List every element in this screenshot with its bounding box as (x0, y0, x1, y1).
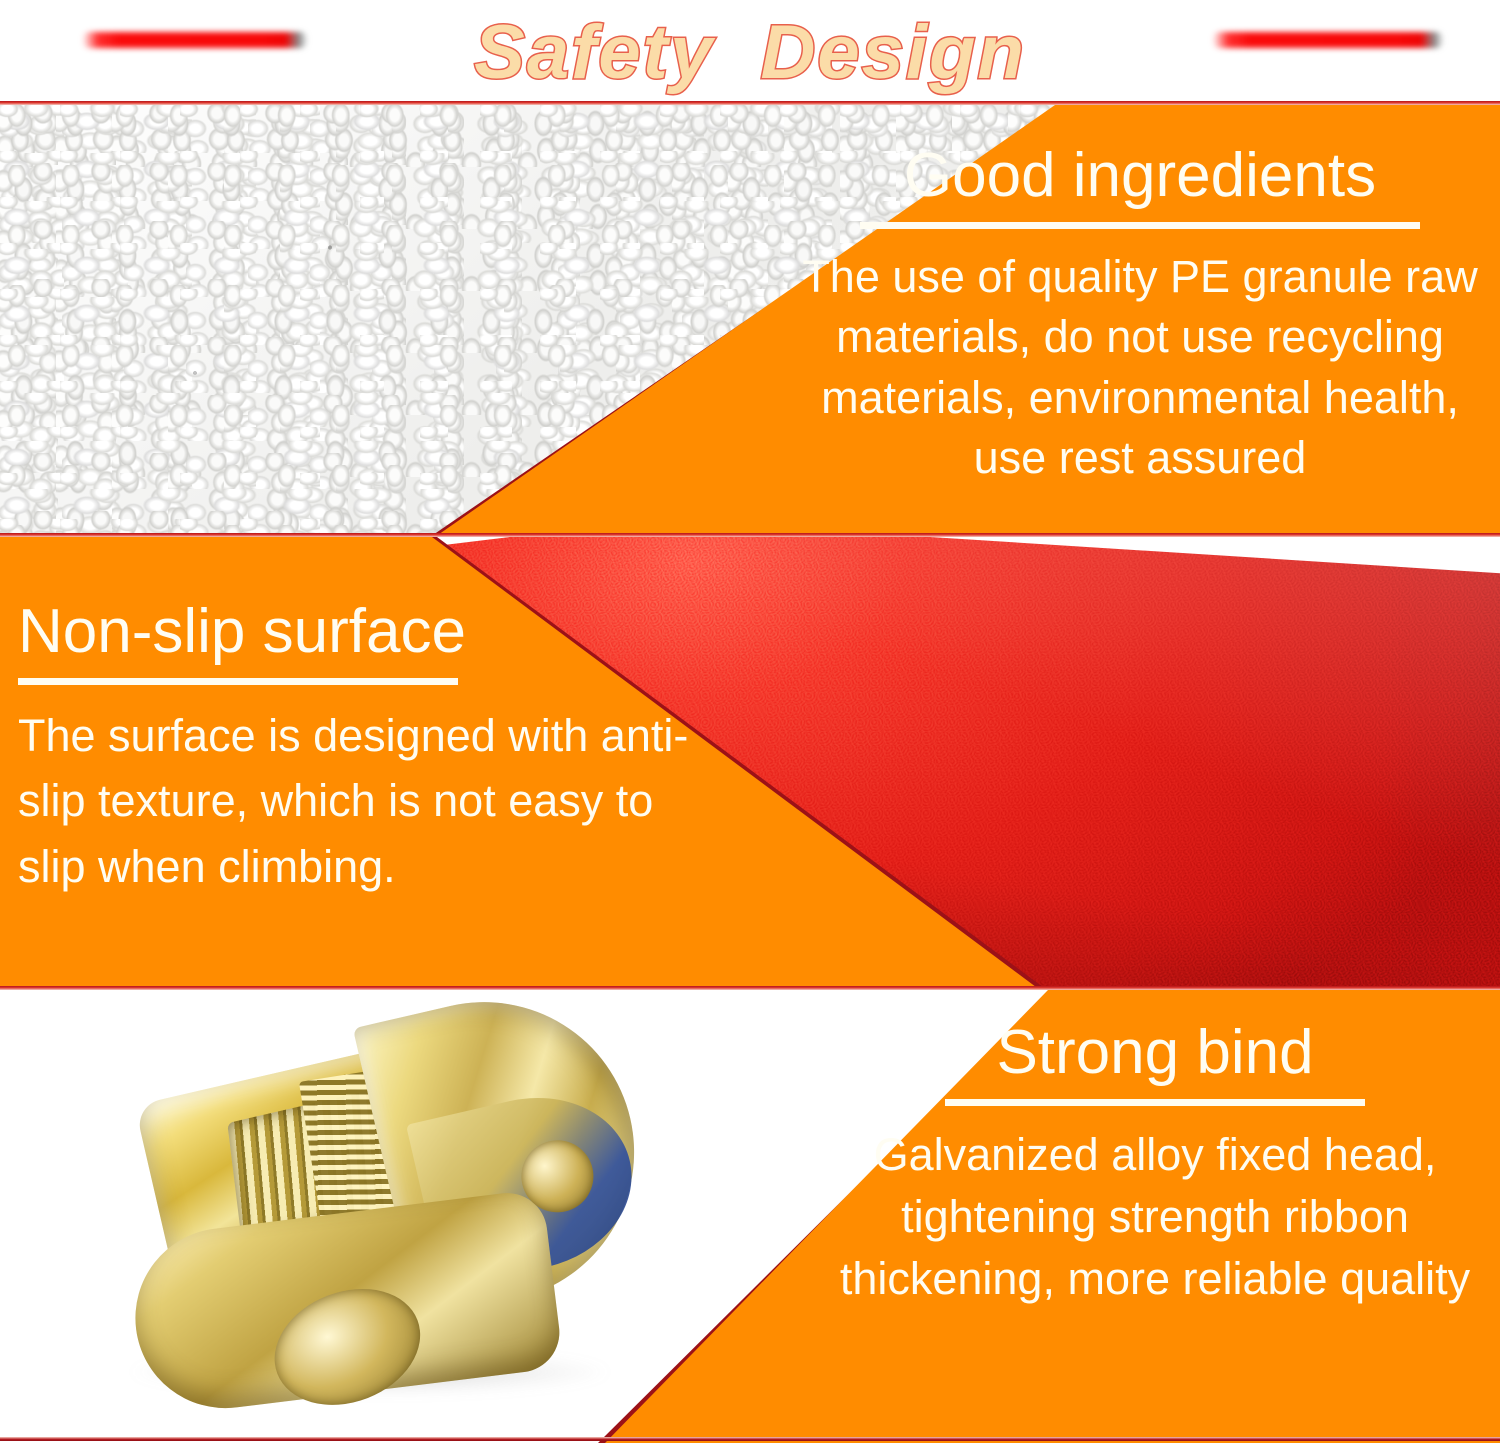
panel-1-body: The use of quality PE granule raw materi… (790, 247, 1490, 488)
panel-2-copy: Non-slip surface The surface is designed… (18, 599, 698, 899)
panel-3-copy: Strong bind Galvanized alloy fixed head,… (815, 1020, 1495, 1310)
buckle-assembly (57, 990, 712, 1443)
safety-design-infographic: Safety Design Good ingredients The use o… (0, 0, 1500, 1443)
panel-2-heading: Non-slip surface (18, 599, 698, 664)
panel-3-heading: Strong bind (815, 1020, 1495, 1085)
divider-top (0, 101, 1500, 105)
panel-2-heading-underline (18, 678, 458, 685)
panel-1-heading: Good ingredients (790, 143, 1490, 208)
divider-bottom (0, 1437, 1500, 1441)
panel-1-heading-underline (860, 222, 1420, 229)
panel-strong-bind: Strong bind Galvanized alloy fixed head,… (0, 990, 1500, 1443)
panel-non-slip-surface: Non-slip surface The surface is designed… (0, 537, 1500, 990)
panel-1-copy: Good ingredients The use of quality PE g… (790, 143, 1490, 488)
divider-panel2-panel3 (0, 986, 1500, 990)
panel-3-body: Galvanized alloy fixed head, tightening … (815, 1124, 1495, 1310)
header: Safety Design (0, 0, 1500, 105)
panel-good-ingredients: Good ingredients The use of quality PE g… (0, 105, 1500, 537)
panel-2-body: The surface is designed with anti-slip t… (18, 703, 698, 899)
page-title: Safety Design (0, 0, 1500, 105)
divider-panel1-panel2 (0, 533, 1500, 537)
panel-3-heading-underline (945, 1099, 1365, 1106)
